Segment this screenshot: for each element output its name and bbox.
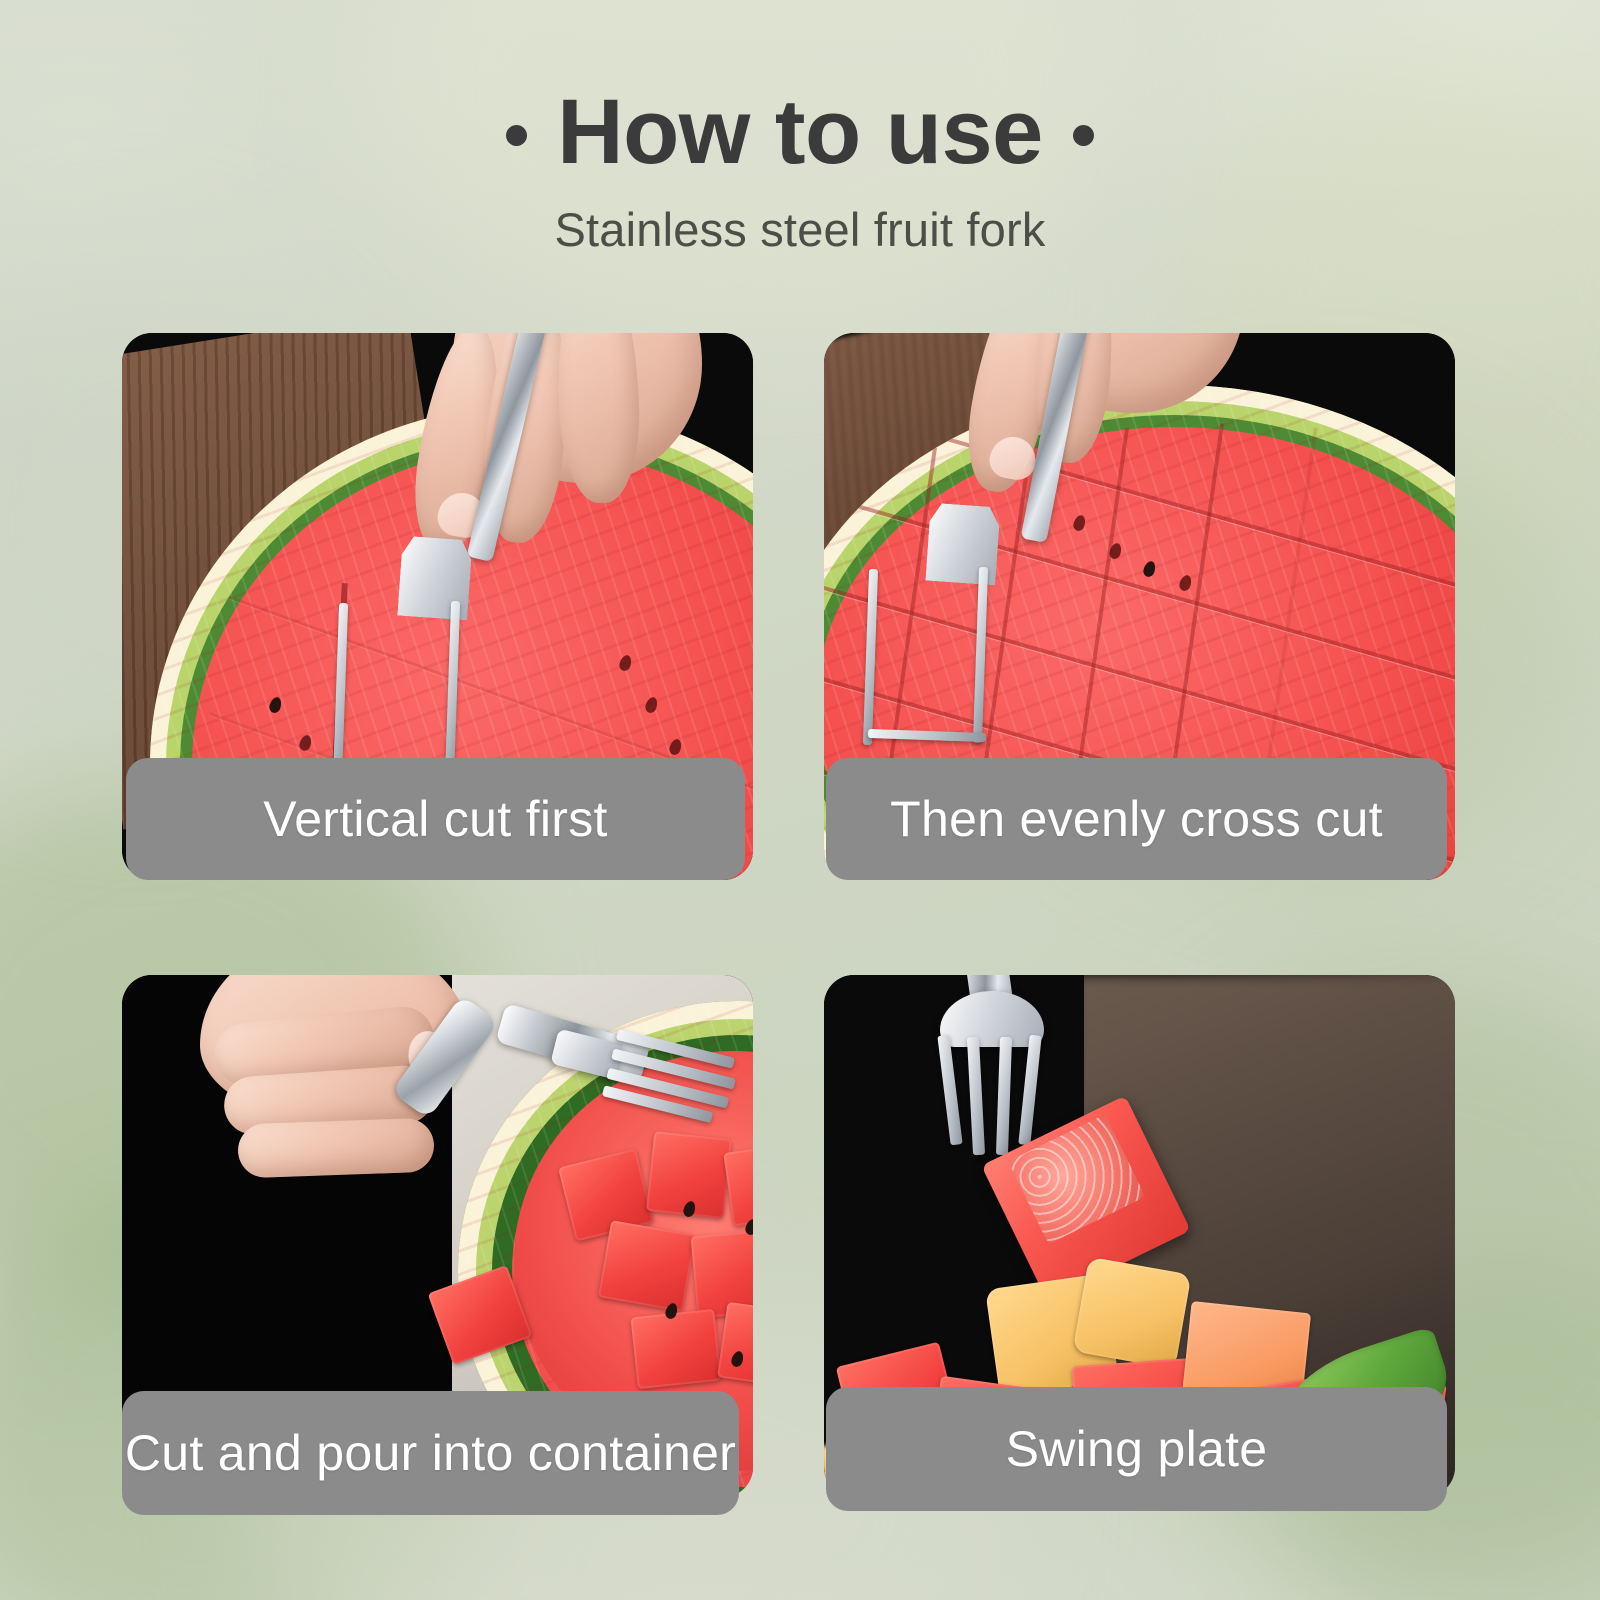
header: How to use Stainless steel fruit fork [0, 84, 1600, 257]
step-caption-bar-1: Vertical cut first [126, 758, 745, 880]
page-subtitle: Stainless steel fruit fork [0, 202, 1600, 257]
step-caption-bar-4: Swing plate [826, 1387, 1447, 1511]
step-card-2: Then evenly cross cut [824, 333, 1455, 880]
step-caption-1: Vertical cut first [263, 790, 607, 848]
step-card-4: Swing plate [824, 975, 1455, 1497]
step-caption-bar-2: Then evenly cross cut [826, 758, 1447, 880]
step-caption-4: Swing plate [1006, 1420, 1268, 1478]
page-title: How to use [557, 84, 1043, 182]
steps-grid: Vertical cut first [122, 333, 1455, 1497]
bullet-dot-right-icon [1073, 125, 1094, 146]
step-caption-3: Cut and pour into container [125, 1424, 736, 1482]
step-caption-2: Then evenly cross cut [890, 790, 1383, 848]
step-card-1: Vertical cut first [122, 333, 753, 880]
step-caption-bar-3: Cut and pour into container [122, 1391, 739, 1515]
bullet-dot-left-icon [506, 125, 527, 146]
title-row: How to use [0, 84, 1600, 182]
step-card-3: Cut and pour into container [122, 975, 753, 1497]
